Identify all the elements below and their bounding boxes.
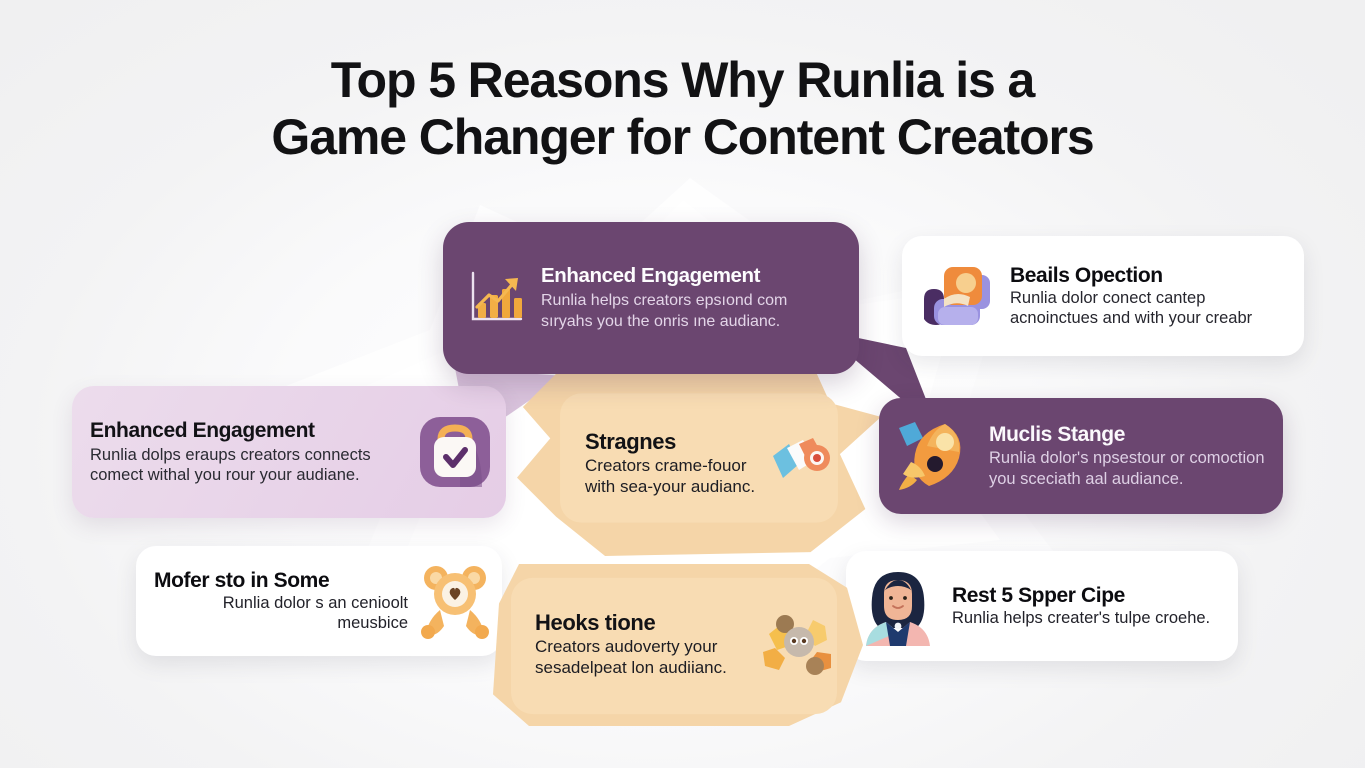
- book-camera-icon: [769, 434, 833, 492]
- card-body-text: Runlia dolps eraups creators connects co…: [90, 445, 408, 485]
- shopping-bag-check-icon: [418, 413, 492, 491]
- card-heading: Stragnes: [585, 429, 759, 455]
- card-body-text: Runlia helps creators epsıond com sıryah…: [541, 291, 839, 332]
- page-title-line-2: Game Changer for Content Creators: [0, 109, 1365, 166]
- card-heading: Enhanced Engagement: [541, 264, 839, 288]
- rocket-launch-icon: [893, 418, 975, 494]
- card-stragnes[interactable]: Stragnes Creators crame-fouor with sea-y…: [563, 404, 841, 522]
- card-enhanced-engagement-purple[interactable]: Enhanced Engagement Runlia helps creator…: [443, 222, 859, 374]
- card-body-text: Creators audoverty your sesadelpeat lon …: [535, 637, 749, 678]
- card-body-text: Runlia dolor's npsestour or comoction yo…: [989, 448, 1267, 488]
- card-muclis-stange[interactable]: Muclis Stange Runlia dolor's npsestour o…: [879, 398, 1283, 514]
- card-enhanced-engagement-lavender[interactable]: Enhanced Engagement Runlia dolps eraups …: [72, 386, 506, 518]
- card-heading: Mofer sto in Some: [154, 569, 408, 593]
- page-title: Top 5 Reasons Why Runlia is a Game Chang…: [0, 52, 1365, 165]
- woman-avatar-icon: [858, 566, 938, 646]
- card-mofer-sto-in-some[interactable]: Mofer sto in Some Runlia dolor s an ceni…: [136, 546, 502, 656]
- card-body-text: Creators crame-fouor with sea-your audia…: [585, 456, 759, 497]
- card-rest-5-spper-cipe[interactable]: Rest 5 Spper Cipe Runlia helps creater's…: [846, 551, 1238, 661]
- card-body-text: Runlia helps creater's tulpe croehe.: [952, 609, 1222, 629]
- card-heading: Enhanced Engagement: [90, 419, 408, 443]
- card-body-text: Runlia dolor conect cantep acnoinctues a…: [1010, 289, 1288, 328]
- bar-chart-growth-icon: [465, 267, 527, 329]
- card-heading: Beails Opection: [1010, 264, 1288, 288]
- card-heading: Muclis Stange: [989, 423, 1267, 447]
- person-reading-couch-icon: [916, 259, 996, 333]
- bee-honey-icon: [759, 608, 839, 680]
- card-beails-opection[interactable]: Beails Opection Runlia dolor conect cant…: [902, 236, 1304, 356]
- card-body-text: Runlia dolor s an cenioolt meusbice: [154, 594, 408, 634]
- page-title-line-1: Top 5 Reasons Why Runlia is a: [0, 52, 1365, 109]
- card-heoks-tione[interactable]: Heoks tione Creators audoverty your sesa…: [513, 586, 847, 702]
- teddy-bear-heart-icon: [418, 562, 492, 640]
- card-heading: Heoks tione: [535, 610, 749, 636]
- card-heading: Rest 5 Spper Cipe: [952, 584, 1222, 608]
